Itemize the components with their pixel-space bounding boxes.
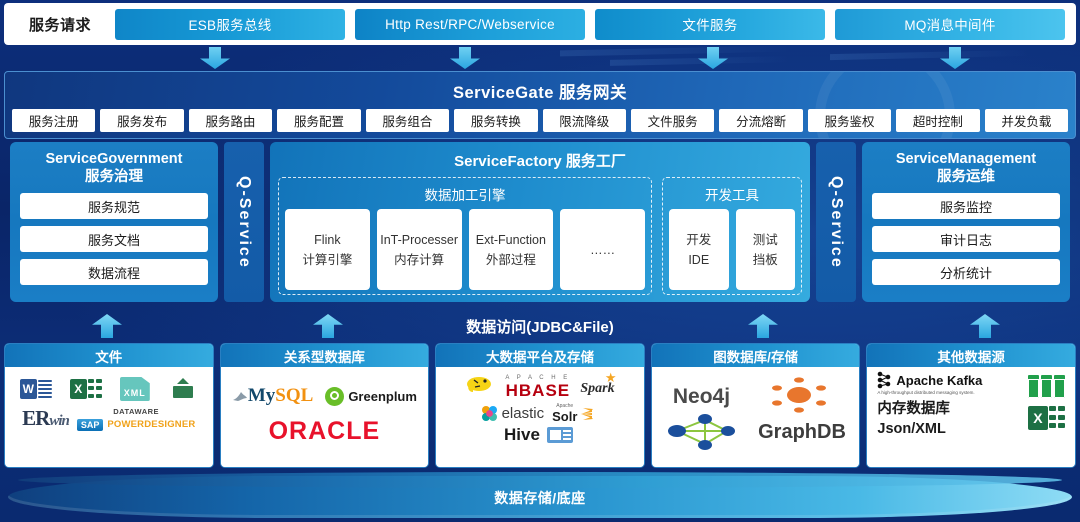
elastic-mark-icon — [481, 405, 498, 422]
service-government-title-cn: 服务治理 — [20, 168, 208, 186]
arrow-down-icon — [940, 47, 970, 69]
request-button-esb[interactable]: ESB服务总线 — [115, 9, 345, 40]
greenplum-mark-icon — [325, 387, 344, 406]
q-service-left-bar: Q-Service — [224, 142, 264, 302]
green-file-icon — [168, 377, 198, 401]
data-processing-engine-group: 数据加工引擎 Flink 计算引擎 InT-Processer 内存计算 Ext… — [278, 177, 652, 295]
down-arrow-band — [0, 45, 1080, 71]
source-card-bigdata-title: 大数据平台及存储 — [436, 344, 644, 367]
engine-cell-ext-function-line1: Ext-Function — [476, 230, 546, 250]
greenplum-text: Greenplum — [348, 389, 417, 404]
governance-row-service-doc[interactable]: 服务文档 — [20, 226, 208, 252]
excel-icon: X — [1028, 406, 1065, 430]
kafka-mark-icon — [877, 371, 893, 389]
oracle-logo: ORACLE — [269, 417, 381, 445]
diagram-canvas: 服务请求 ESB服务总线 Http Rest/RPC/Webservice 文件… — [0, 0, 1080, 522]
arrow-up-icon — [970, 314, 1000, 338]
source-card-graphdb[interactable]: 图数据库/存储 Neo4j — [651, 343, 861, 468]
management-row-analytics[interactable]: 分析统计 — [872, 259, 1060, 285]
json-xml-text: Json/XML — [877, 420, 982, 439]
engine-cell-ext-function[interactable]: Ext-Function 外部过程 — [469, 209, 554, 290]
gate-item-timeout-control[interactable]: 超时控制 — [896, 109, 979, 132]
engine-cell-flink-line1: Flink — [314, 230, 340, 250]
service-factory-body: 数据加工引擎 Flink 计算引擎 InT-Processer 内存计算 Ext… — [278, 177, 802, 295]
service-management-panel: ServiceManagement 服务运维 服务监控 审计日志 分析统计 — [862, 142, 1070, 302]
request-button-http-rest[interactable]: Http Rest/RPC/Webservice — [355, 9, 585, 40]
source-card-bigdata-body: A P A C H E HBASE ★ Spark — [436, 367, 644, 467]
source-card-bigdata[interactable]: 大数据平台及存储 A P A C H E HBASE — [435, 343, 645, 468]
source-card-relational-db[interactable]: 关系型数据库 MySQL Greenplum ORACLE — [220, 343, 430, 468]
source-card-relational-db-body: MySQL Greenplum ORACLE — [221, 367, 429, 467]
service-management-title: ServiceManagement 服务运维 — [872, 150, 1060, 186]
management-row-service-monitor[interactable]: 服务监控 — [872, 193, 1060, 219]
gate-item-service-register[interactable]: 服务注册 — [12, 109, 95, 132]
request-button-mq[interactable]: MQ消息中间件 — [835, 9, 1065, 40]
gate-item-file-service[interactable]: 文件服务 — [631, 109, 714, 132]
spark-star-icon: ★ — [605, 370, 617, 386]
gate-item-concurrency-load[interactable]: 并发负载 — [985, 109, 1068, 132]
gate-item-service-auth[interactable]: 服务鉴权 — [808, 109, 891, 132]
graphdb-mark-icon — [760, 377, 838, 417]
hive-logo: Hive — [504, 425, 540, 445]
hbase-text: HBASE — [506, 381, 571, 401]
request-button-file-service[interactable]: 文件服务 — [595, 9, 825, 40]
engine-cell-flink[interactable]: Flink 计算引擎 — [285, 209, 370, 290]
graphdb-logo: GraphDB — [758, 421, 846, 444]
engine-cell-flink-line2: 计算引擎 — [302, 250, 352, 270]
engine-cell-int-processer[interactable]: InT-Processer 内存计算 — [377, 209, 462, 290]
service-factory-panel: ServiceFactory 服务工厂 数据加工引擎 Flink 计算引擎 In… — [270, 142, 810, 302]
engine-cell-more[interactable]: …… — [560, 209, 645, 290]
service-management-title-cn: 服务运维 — [872, 168, 1060, 186]
gate-item-service-route[interactable]: 服务路由 — [189, 109, 272, 132]
dev-tools-cell-list: 开发 IDE 测试 挡板 — [669, 209, 795, 290]
dataware-logo: DATAWARE — [113, 407, 159, 416]
source-card-other[interactable]: 其他数据源 Apache Kafka — [866, 343, 1076, 468]
gate-item-service-config[interactable]: 服务配置 — [277, 109, 360, 132]
xml-file-icon: XML — [120, 377, 150, 401]
platter-top-highlight — [18, 472, 1062, 488]
arrow-up-icon — [92, 314, 122, 338]
arrow-up-icon — [748, 314, 778, 338]
hive-bee-icon — [465, 374, 495, 401]
dev-tools-cell-test-line2: 挡板 — [753, 250, 778, 270]
arrow-down-icon — [698, 47, 728, 69]
erwin-logo: ERwin — [22, 406, 69, 431]
mysql-dolphin-icon — [232, 390, 248, 402]
mysql-logo: MySQL — [232, 385, 313, 407]
excel-icon: X — [70, 379, 102, 399]
data-processing-engine-title: 数据加工引擎 — [285, 184, 645, 204]
governance-row-data-flow[interactable]: 数据流程 — [20, 259, 208, 285]
service-factory-title: ServiceFactory 服务工厂 — [278, 150, 802, 171]
middle-band: ServiceGovernment 服务治理 服务规范 服务文档 数据流程 Q-… — [4, 142, 1076, 308]
source-card-relational-db-title: 关系型数据库 — [221, 344, 429, 367]
sap-logo: SAP — [77, 419, 104, 431]
service-request-row: 服务请求 ESB服务总线 Http Rest/RPC/Webservice 文件… — [4, 3, 1076, 45]
arrow-up-icon — [313, 314, 343, 338]
graph-nodes-icon — [665, 411, 743, 453]
source-card-list: 文件 W X XML — [4, 343, 1076, 468]
arrow-down-icon — [200, 47, 230, 69]
kafka-text: Apache Kafka — [896, 373, 982, 388]
data-access-bar: 数据访问(JDBC&File) — [0, 310, 1080, 342]
solr-text: Solr — [552, 409, 577, 424]
dev-tools-group: 开发工具 开发 IDE 测试 挡板 — [662, 177, 802, 295]
source-card-file-title: 文件 — [5, 344, 213, 367]
neo4j-logo: Neo4j — [673, 385, 730, 409]
source-card-other-body: Apache Kafka A high-throughput distribut… — [867, 367, 1075, 467]
service-gate-title: ServiceGate 服务网关 — [5, 72, 1075, 103]
engine-cell-list: Flink 计算引擎 InT-Processer 内存计算 Ext-Functi… — [285, 209, 645, 290]
word-icon: W — [20, 379, 52, 399]
engine-cell-ext-function-line2: 外部过程 — [486, 250, 536, 270]
arrow-down-icon — [450, 47, 480, 69]
service-government-title: ServiceGovernment 服务治理 — [20, 150, 208, 186]
service-management-title-en: ServiceManagement — [896, 151, 1036, 167]
service-government-panel: ServiceGovernment 服务治理 服务规范 服务文档 数据流程 — [10, 142, 218, 302]
engine-cell-more-line1: …… — [590, 240, 615, 260]
erwin-text-er: ER — [22, 406, 49, 430]
data-access-label: 数据访问(JDBC&File) — [466, 316, 614, 337]
dev-tools-cell-test[interactable]: 测试 挡板 — [736, 209, 796, 290]
kafka-subtitle: A high-throughput distributed messaging … — [877, 390, 982, 395]
engine-cell-int-processer-line1: InT-Processer — [380, 230, 458, 250]
engine-cell-int-processer-line2: 内存计算 — [394, 250, 444, 270]
hive-elephant-glyph — [465, 374, 495, 396]
service-request-label: 服务请求 — [10, 14, 110, 35]
bottom-banner: 数据存储/底座 — [0, 468, 1080, 522]
spark-logo: ★ Spark — [580, 379, 614, 397]
dev-tools-cell-ide-line1: 开发 — [686, 230, 711, 250]
erwin-text-win: win — [49, 413, 69, 429]
q-service-right-label: Q-Service — [827, 176, 845, 269]
gate-item-service-transform[interactable]: 服务转换 — [454, 109, 537, 132]
dev-tools-cell-ide[interactable]: 开发 IDE — [669, 209, 729, 290]
management-row-audit-log[interactable]: 审计日志 — [872, 226, 1060, 252]
solr-sun-icon — [579, 405, 599, 423]
elastic-text: elastic — [502, 405, 545, 422]
kafka-logo: Apache Kafka — [877, 371, 982, 389]
source-card-graphdb-title: 图数据库/存储 — [652, 344, 860, 367]
service-government-title-en: ServiceGovernment — [45, 151, 182, 167]
governance-row-service-spec[interactable]: 服务规范 — [20, 193, 208, 219]
dev-tools-cell-test-line1: 测试 — [753, 230, 778, 250]
green-file-glyph — [168, 377, 198, 401]
powerdesigner-logo: POWERDESIGNER — [107, 419, 195, 430]
table-grid-icon — [1028, 375, 1065, 398]
source-card-graphdb-body: Neo4j — [652, 367, 860, 467]
service-gate-item-list: 服务注册 服务发布 服务路由 服务配置 服务组合 服务转换 限流降级 文件服务 … — [5, 103, 1075, 132]
source-card-file[interactable]: 文件 W X XML — [4, 343, 214, 468]
gate-item-rate-limit[interactable]: 限流降级 — [543, 109, 626, 132]
dev-tools-title: 开发工具 — [669, 184, 795, 204]
service-gate-panel: ServiceGate 服务网关 服务注册 服务发布 服务路由 服务配置 服务组… — [4, 71, 1076, 139]
hbase-logo: A P A C H E HBASE — [505, 375, 570, 401]
gate-item-service-compose[interactable]: 服务组合 — [366, 109, 449, 132]
source-card-other-title: 其他数据源 — [867, 344, 1075, 367]
dev-tools-cell-ide-line2: IDE — [688, 250, 709, 270]
hive-doc-icon — [546, 425, 576, 445]
solr-logo: Apache Solr — [552, 403, 599, 424]
bottom-banner-label: 数据存储/底座 — [0, 488, 1080, 508]
gate-item-circuit-breaker[interactable]: 分流熔断 — [719, 109, 802, 132]
q-service-right-bar: Q-Service — [816, 142, 856, 302]
greenplum-logo: Greenplum — [325, 387, 417, 406]
memory-db-text: 内存数据库 — [877, 400, 982, 419]
elastic-logo: elastic — [481, 405, 545, 422]
gate-item-service-publish[interactable]: 服务发布 — [100, 109, 183, 132]
q-service-left-label: Q-Service — [235, 176, 253, 269]
source-card-file-body: W X XML — [5, 367, 213, 467]
